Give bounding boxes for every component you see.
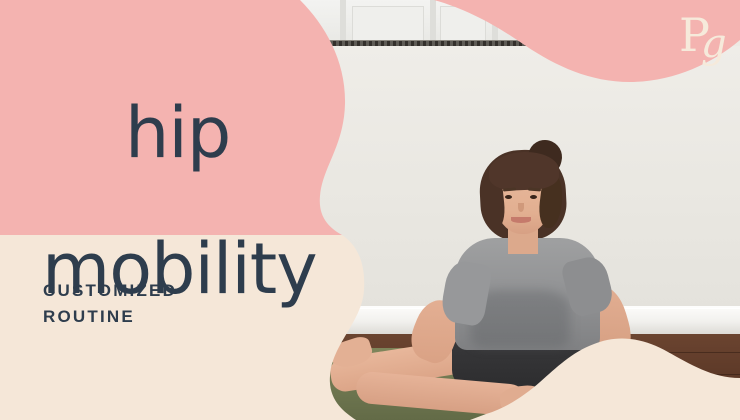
brand-logo: P g	[679, 12, 733, 64]
cream-wave-shape	[470, 338, 740, 420]
page-title: hip mobility	[40, 32, 317, 420]
subtitle-line-1: CUSTOMIZED	[43, 281, 177, 300]
logo-letter-g: g	[701, 24, 727, 64]
subtitle-line-2: ROUTINE	[43, 304, 177, 330]
subtitle: CUSTOMIZED ROUTINE	[43, 278, 177, 331]
video-thumbnail-canvas: hip mobility CUSTOMIZED ROUTINE P g	[0, 0, 740, 420]
title-line-1: hip	[125, 92, 230, 174]
